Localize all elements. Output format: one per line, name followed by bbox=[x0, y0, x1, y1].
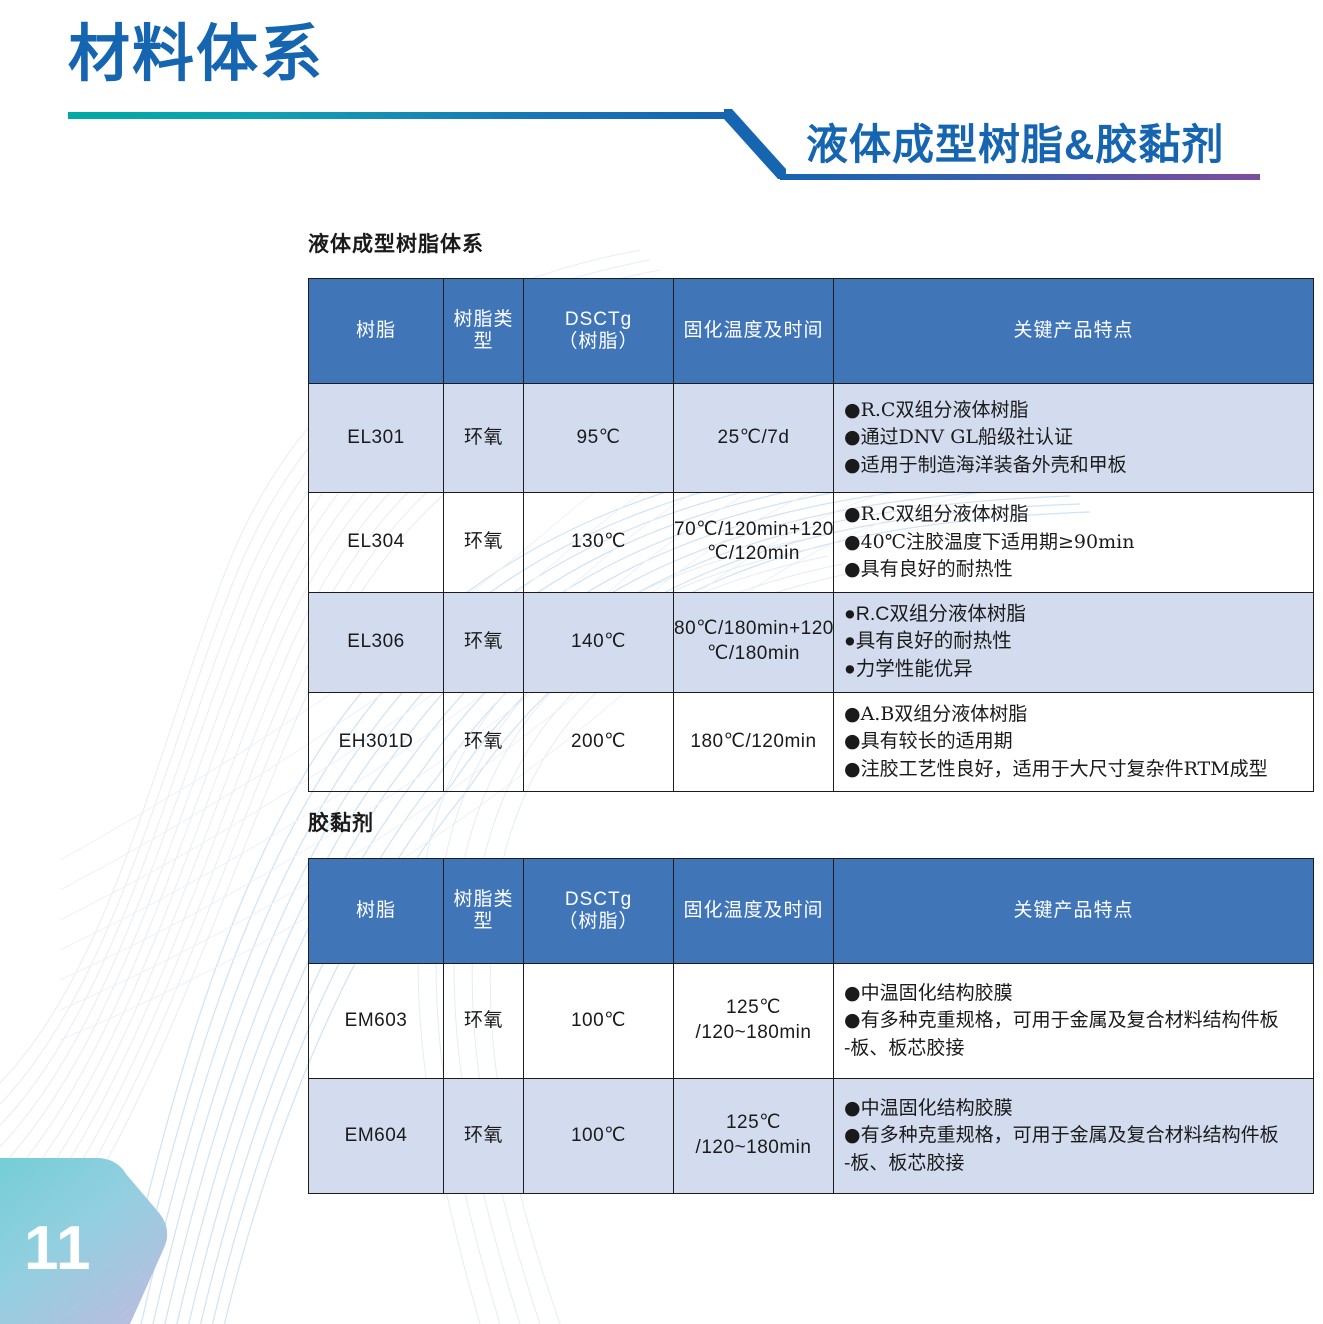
cell-dsctg: 95℃ bbox=[524, 384, 674, 493]
cell-cure-line1: 25℃/7d bbox=[718, 427, 790, 448]
column-header-resin: 树脂 bbox=[309, 279, 444, 384]
cell-cure-line2: /120~180min bbox=[696, 1137, 812, 1158]
title-underline-rule bbox=[68, 112, 728, 119]
section-label-adhesive: 胶黏剂 bbox=[308, 807, 374, 837]
cell-cure-line2: /120~180min bbox=[696, 1022, 812, 1043]
cell-resin-type: 环氧 bbox=[444, 692, 524, 792]
column-header-resin-type: 树脂类型 bbox=[444, 859, 524, 964]
table-row: EL306 环氧 140℃ 80℃/180min+120 ℃/180min ●R… bbox=[309, 592, 1314, 692]
feature-item: ●具有较长的适用期 bbox=[844, 728, 1309, 756]
cell-cure: 80℃/180min+120 ℃/180min bbox=[674, 592, 834, 692]
feature-item: ●A.B双组分液体树脂 bbox=[844, 701, 1309, 729]
column-header-cure-label: 固化温度及时间 bbox=[683, 320, 823, 341]
cell-features: ●R.C双组分液体树脂 ●通过DNV GL船级社认证 ●适用于制造海洋装备外壳和… bbox=[834, 384, 1314, 493]
column-header-resin-label: 树脂 bbox=[356, 320, 396, 341]
feature-item: ●R.C双组分液体树脂 bbox=[844, 501, 1309, 529]
cell-dsctg: 100℃ bbox=[524, 964, 674, 1079]
liquid-resin-spec-table: 树脂 树脂类型 DSCTg （树脂） 固化温度及时间 关键产品特点 EL301 … bbox=[308, 278, 1314, 792]
column-header-cure: 固化温度及时间 bbox=[674, 279, 834, 384]
page-title: 材料体系 bbox=[68, 24, 324, 86]
column-header-cure-label: 固化温度及时间 bbox=[683, 900, 823, 921]
feature-item: ●中温固化结构胶膜 bbox=[844, 980, 1309, 1008]
cell-dsctg: 200℃ bbox=[524, 692, 674, 792]
cell-resin-type: 环氧 bbox=[444, 493, 524, 593]
column-header-resin-label: 树脂 bbox=[356, 900, 396, 921]
column-header-dsctg: DSCTg （树脂） bbox=[524, 279, 674, 384]
column-header-cure: 固化温度及时间 bbox=[674, 859, 834, 964]
table-header-row: 树脂 树脂类型 DSCTg （树脂） 固化温度及时间 关键产品特点 bbox=[309, 859, 1314, 964]
column-header-dsctg: DSCTg （树脂） bbox=[524, 859, 674, 964]
cell-cure-line1: 180℃/120min bbox=[690, 731, 816, 752]
cell-dsctg: 130℃ bbox=[524, 493, 674, 593]
feature-item: ●R.C双组分液体树脂 bbox=[844, 601, 1309, 629]
cell-features: ●中温固化结构胶膜 ●有多种克重规格，可用于金属及复合材料结构件板 -板、板芯胶… bbox=[834, 1079, 1314, 1194]
column-header-dsctg-sublabel: （树脂） bbox=[524, 331, 673, 353]
feature-item: ●通过DNV GL船级社认证 bbox=[844, 424, 1309, 452]
column-header-dsctg-label: DSCTg bbox=[565, 889, 632, 910]
cell-resin: EM604 bbox=[309, 1079, 444, 1194]
column-header-features-label: 关键产品特点 bbox=[1013, 320, 1133, 341]
cell-cure-line2: ℃/180min bbox=[707, 643, 800, 664]
cell-resin: EL306 bbox=[309, 592, 444, 692]
cell-dsctg: 140℃ bbox=[524, 592, 674, 692]
feature-item: ●有多种克重规格，可用于金属及复合材料结构件板 bbox=[844, 1122, 1309, 1150]
table-row: EL301 环氧 95℃ 25℃/7d ●R.C双组分液体树脂 ●通过DNV G… bbox=[309, 384, 1314, 493]
feature-item: ●中温固化结构胶膜 bbox=[844, 1095, 1309, 1123]
table-row: EM603 环氧 100℃ 125℃ /120~180min ●中温固化结构胶膜… bbox=[309, 964, 1314, 1079]
feature-item: ●40℃注胶温度下适用期≥90min bbox=[844, 529, 1309, 557]
section-label-liquid-resin: 液体成型树脂体系 bbox=[308, 228, 484, 258]
feature-item: ●R.C双组分液体树脂 bbox=[844, 397, 1309, 425]
cell-cure: 70℃/120min+120 ℃/120min bbox=[674, 493, 834, 593]
feature-item: ●具有良好的耐热性 bbox=[844, 628, 1309, 656]
cell-dsctg: 100℃ bbox=[524, 1079, 674, 1194]
column-header-dsctg-label: DSCTg bbox=[565, 309, 632, 330]
cell-cure-line1: 125℃ bbox=[726, 1112, 781, 1133]
cell-cure-line1: 125℃ bbox=[726, 997, 781, 1018]
cell-resin-type: 环氧 bbox=[444, 1079, 524, 1194]
feature-item: ●有多种克重规格，可用于金属及复合材料结构件板 bbox=[844, 1007, 1309, 1035]
feature-item: -板、板芯胶接 bbox=[844, 1035, 1309, 1063]
banner-underline-rule bbox=[780, 174, 1260, 180]
column-header-resin-type-label: 树脂类型 bbox=[453, 309, 513, 352]
title-rule-elbow-icon bbox=[724, 107, 794, 179]
cell-features: ●中温固化结构胶膜 ●有多种克重规格，可用于金属及复合材料结构件板 -板、板芯胶… bbox=[834, 964, 1314, 1079]
cell-features: ●R.C双组分液体树脂 ●具有良好的耐热性 ●力学性能优异 bbox=[834, 592, 1314, 692]
column-header-dsctg-sublabel: （树脂） bbox=[524, 911, 673, 933]
feature-item: -板、板芯胶接 bbox=[844, 1150, 1309, 1178]
cell-cure-line1: 80℃/180min+120 bbox=[674, 618, 834, 639]
column-header-resin-type: 树脂类型 bbox=[444, 279, 524, 384]
cell-resin: EH301D bbox=[309, 692, 444, 792]
column-header-resin-type-label: 树脂类型 bbox=[453, 889, 513, 932]
table-header-row: 树脂 树脂类型 DSCTg （树脂） 固化温度及时间 关键产品特点 bbox=[309, 279, 1314, 384]
table-row: EH301D 环氧 200℃ 180℃/120min ●A.B双组分液体树脂 ●… bbox=[309, 692, 1314, 792]
cell-cure: 180℃/120min bbox=[674, 692, 834, 792]
column-header-features: 关键产品特点 bbox=[834, 859, 1314, 964]
cell-resin-type: 环氧 bbox=[444, 384, 524, 493]
table-row: EM604 环氧 100℃ 125℃ /120~180min ●中温固化结构胶膜… bbox=[309, 1079, 1314, 1194]
cell-cure-line1: 70℃/120min+120 bbox=[674, 519, 834, 540]
table-row: EL304 环氧 130℃ 70℃/120min+120 ℃/120min ●R… bbox=[309, 493, 1314, 593]
cell-resin: EL304 bbox=[309, 493, 444, 593]
cell-cure: 125℃ /120~180min bbox=[674, 1079, 834, 1194]
cell-resin: EL301 bbox=[309, 384, 444, 493]
cell-features: ●R.C双组分液体树脂 ●40℃注胶温度下适用期≥90min ●具有良好的耐热性 bbox=[834, 493, 1314, 593]
feature-item: ●力学性能优异 bbox=[844, 656, 1309, 684]
adhesive-spec-table: 树脂 树脂类型 DSCTg （树脂） 固化温度及时间 关键产品特点 EM603 … bbox=[308, 858, 1314, 1194]
column-header-resin: 树脂 bbox=[309, 859, 444, 964]
column-header-features: 关键产品特点 bbox=[834, 279, 1314, 384]
cell-cure: 125℃ /120~180min bbox=[674, 964, 834, 1079]
cell-cure-line2: ℃/120min bbox=[707, 543, 800, 564]
feature-item: ●注胶工艺性良好，适用于大尺寸复杂件RTM成型 bbox=[844, 756, 1309, 784]
cell-resin-type: 环氧 bbox=[444, 592, 524, 692]
cell-resin: EM603 bbox=[309, 964, 444, 1079]
section-banner-title: 液体成型树脂&胶黏剂 bbox=[806, 124, 1224, 166]
feature-item: ●适用于制造海洋装备外壳和甲板 bbox=[844, 452, 1309, 480]
column-header-features-label: 关键产品特点 bbox=[1013, 900, 1133, 921]
cell-cure: 25℃/7d bbox=[674, 384, 834, 493]
feature-item: ●具有良好的耐热性 bbox=[844, 556, 1309, 584]
cell-resin-type: 环氧 bbox=[444, 964, 524, 1079]
page-number: 11 bbox=[24, 1218, 92, 1280]
cell-features: ●A.B双组分液体树脂 ●具有较长的适用期 ●注胶工艺性良好，适用于大尺寸复杂件… bbox=[834, 692, 1314, 792]
